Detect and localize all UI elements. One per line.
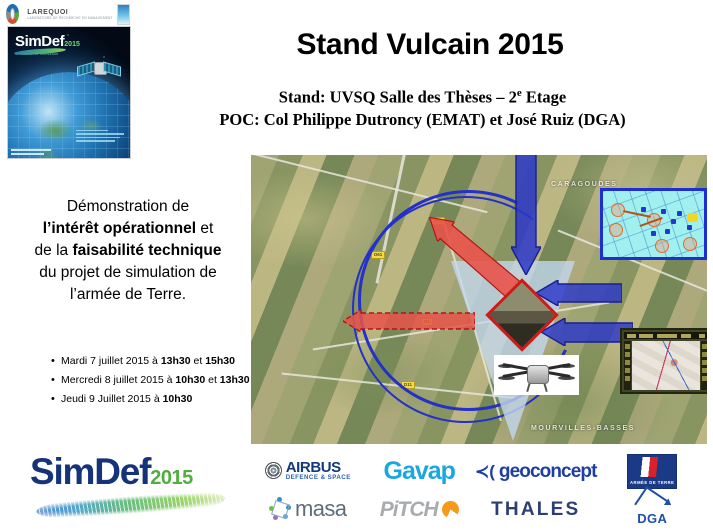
slide-root: LAREQUOI LABORATOIRE DE RECHERCHE EN MAN… bbox=[0, 0, 713, 531]
partner-logo-airbus: AIRBUS DEFENCE & SPACE bbox=[265, 460, 351, 481]
red-withdrawal-arrow-dashed bbox=[343, 310, 475, 332]
geoconcept-label: geoconcept bbox=[499, 462, 597, 481]
blue-assault-arrow-east-1 bbox=[536, 280, 622, 306]
description-emph-1: l’intérêt opérationnel bbox=[43, 220, 196, 237]
poster-satellite-icon bbox=[77, 53, 121, 83]
stand-location-suffix: Etage bbox=[522, 88, 566, 107]
quadcopter-uav-icon bbox=[494, 355, 579, 395]
larequoi-logo: LAREQUOI LABORATOIRE DE RECHERCHE EN MAN… bbox=[27, 9, 112, 20]
partner-logo-bar: AIRBUS DEFENCE & SPACE Gavap ≺( geoconce… bbox=[252, 452, 708, 528]
description-block: Démonstration de l’intérêt opérationnel … bbox=[8, 196, 248, 306]
aerial-tactical-map: D11 D61 D1 D11 CARAGOUDES MOURVILLES-BAS… bbox=[251, 155, 707, 444]
subtitle-line-poc: POC: Col Philippe Dutroncy (EMAT) et Jos… bbox=[150, 109, 695, 131]
poster-globe-grid bbox=[7, 72, 131, 159]
schedule-time-1: 10h30 bbox=[175, 374, 205, 386]
description-line-3-prefix: de la bbox=[35, 242, 73, 259]
simdef-footer-logo: SimDef2015 bbox=[30, 452, 240, 524]
description-emph-2: faisabilité technique bbox=[72, 242, 221, 259]
partner-logo-armee-de-terre: ARMÉE DE TERRE bbox=[627, 454, 677, 489]
schedule-time-1: 13h30 bbox=[161, 355, 191, 367]
partner-logo-masa: masa bbox=[269, 498, 346, 520]
cnrs-logo-icon bbox=[6, 4, 19, 24]
place-label-caragoudes: CARAGOUDES bbox=[551, 181, 618, 188]
simdef-year: 2015 bbox=[150, 467, 193, 489]
description-line-4: du projet de simulation de bbox=[39, 264, 217, 281]
masa-network-icon bbox=[269, 498, 291, 520]
armee-de-terre-label: ARMÉE DE TERRE bbox=[628, 480, 676, 485]
subtitle-line-stand: Stand: UVSQ Salle des Thèses – 2e Etage bbox=[150, 86, 695, 109]
simdef-poster-image: SimDef2015 Simulation et Innovation bbox=[7, 26, 131, 159]
simdef-word: SimDef bbox=[30, 451, 150, 492]
pitch-label: PiTCH bbox=[380, 499, 438, 520]
poster-url-lines bbox=[11, 149, 51, 156]
schedule-time-2: 13h30 bbox=[220, 374, 250, 386]
partner-logo-pitch: PiTCH bbox=[380, 499, 459, 520]
partner-logo-gavap: Gavap bbox=[384, 459, 455, 484]
airbus-sublabel: DEFENCE & SPACE bbox=[286, 475, 351, 481]
page-title: Stand Vulcain 2015 bbox=[150, 28, 710, 62]
gavap-label: Gavap bbox=[384, 459, 455, 484]
uvsq-logo-icon bbox=[117, 4, 130, 25]
airbus-label: AIRBUS bbox=[286, 460, 351, 475]
c2-software-screen-inset bbox=[620, 328, 707, 394]
schedule-date: Mardi 7 juillet 2015 à bbox=[61, 355, 161, 367]
schedule-sep: et bbox=[205, 374, 220, 386]
simdef-wave-graphic bbox=[35, 487, 226, 522]
partner-logo-thales: THALES bbox=[491, 500, 580, 519]
partner-logo-geoconcept: ≺( geoconcept bbox=[475, 462, 597, 481]
subtitle-block: Stand: UVSQ Salle des Thèses – 2e Etage … bbox=[150, 86, 695, 131]
pitch-crescent-icon bbox=[442, 501, 459, 518]
description-line-5: l’armée de Terre. bbox=[70, 286, 186, 303]
airbus-spiral-icon bbox=[265, 462, 282, 479]
poster-bullet-lines bbox=[76, 130, 126, 144]
masa-label: masa bbox=[295, 498, 346, 520]
partner-logo-dga: DGA bbox=[630, 492, 674, 526]
stand-location-prefix: Stand: UVSQ Salle des Thèses – 2 bbox=[279, 88, 517, 107]
schedule-date: Mercredi 8 juillet 2015 à bbox=[61, 374, 175, 386]
thales-label: THALES bbox=[491, 500, 580, 519]
schedule-sep: et bbox=[191, 355, 206, 367]
description-line-2-rest: et bbox=[196, 220, 213, 237]
schedule-time-1: 10h30 bbox=[163, 393, 193, 405]
schedule-date: Jeudi 9 Juillet 2015 à bbox=[61, 393, 163, 405]
french-flag-icon bbox=[633, 457, 658, 477]
dga-label: DGA bbox=[630, 511, 674, 526]
blue-assault-arrow-north bbox=[511, 155, 541, 275]
description-line-1: Démonstration de bbox=[67, 198, 189, 215]
tactical-situation-map-inset bbox=[600, 188, 707, 260]
geoconcept-mark-icon: ≺( bbox=[475, 463, 495, 480]
institutional-logo-bar: LAREQUOI LABORATOIRE DE RECHERCHE EN MAN… bbox=[6, 3, 130, 25]
poster-brand-year: 2015 bbox=[64, 41, 80, 48]
schedule-time-2: 15h30 bbox=[205, 355, 235, 367]
